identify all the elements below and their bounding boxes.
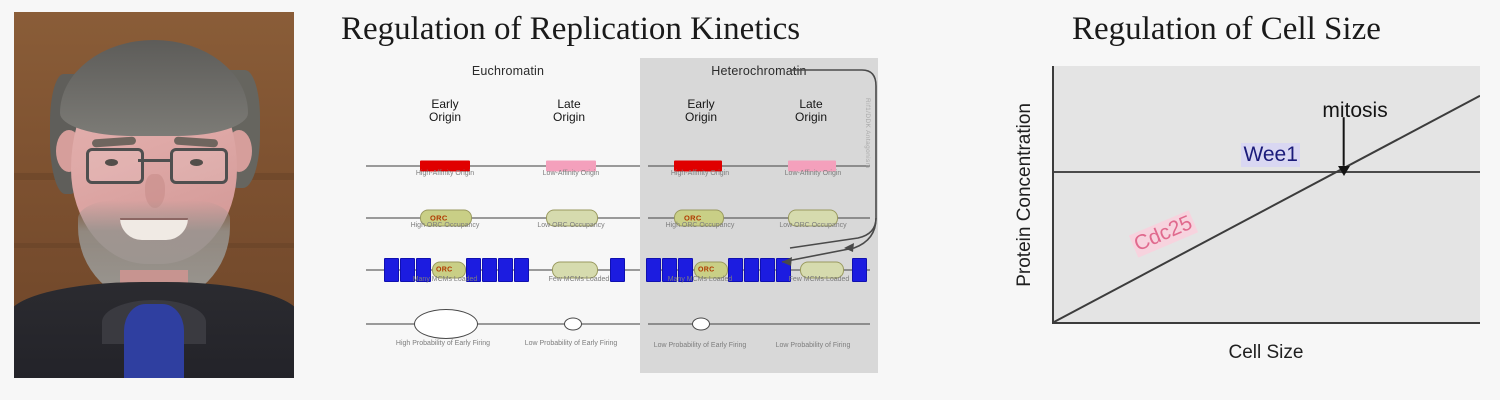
label-line2: Origin [658, 111, 744, 124]
mitosis-arrow-icon [1054, 66, 1480, 322]
page-title-replication-kinetics: Regulation of Replication Kinetics [341, 11, 800, 48]
replication-bubble-large [414, 309, 478, 339]
dna-strand [366, 165, 650, 167]
mitosis-arrowhead-icon [1338, 166, 1350, 176]
mcm-box [498, 258, 513, 282]
dna-strand [366, 217, 650, 219]
euchromatin-row-mcm-loading: ORC Many MCMs Loaded Few MCMs Loaded [358, 246, 658, 294]
heterochromatin-late-origin-label: Late Origin [768, 98, 854, 124]
caption-low-affinity-origin: Low-Affinity Origin [516, 170, 626, 178]
orc-label-text: ORC [698, 267, 714, 274]
caption-high-probability-early-firing: High Probability of Early Firing [388, 340, 498, 348]
portrait-image [14, 12, 294, 378]
replication-bubble-small [564, 318, 582, 331]
caption-high-orc-occupancy: High ORC Occupancy [645, 222, 755, 230]
heterochromatin-row-origin-affinity: High-Affinity Origin Low-Affinity Origin [640, 142, 878, 190]
chart-plot-area: Wee1 Cdc25 mitosis [1052, 66, 1480, 324]
heterochromatin-early-origin-label: Early Origin [658, 98, 744, 124]
caption-few-mcms-loaded: Few MCMs Loaded [524, 276, 634, 284]
panel-heading-euchromatin: Euchromatin [358, 64, 658, 78]
rif1-ddk-antagonism-label: Rif1/DDK Antagonism [864, 98, 871, 168]
caption-low-affinity-origin: Low-Affinity Origin [758, 170, 868, 178]
orc-label-text: ORC [436, 267, 452, 274]
caption-high-orc-occupancy: High ORC Occupancy [390, 222, 500, 230]
y-axis-label-text: Protein Concentration [1014, 103, 1036, 287]
dna-strand [648, 323, 870, 325]
replication-kinetics-diagram: Euchromatin Early Origin Late Origin Hig… [330, 58, 890, 388]
dna-strand [366, 323, 650, 325]
panel-heading-heterochromatin: Heterochromatin [640, 64, 878, 78]
caption-few-mcms-loaded: Few MCMs Loaded [764, 276, 874, 284]
page-title-cell-size: Regulation of Cell Size [1072, 11, 1381, 48]
caption-low-orc-occupancy: Low ORC Occupancy [758, 222, 868, 230]
euchromatin-row-orc-occupancy: ORC High ORC Occupancy Low ORC Occupancy [358, 194, 658, 242]
euchromatin-row-origin-affinity: High-Affinity Origin Low-Affinity Origin [358, 142, 658, 190]
figure-canvas: Regulation of Replication Kinetics Regul… [0, 0, 1500, 400]
caption-low-probability-early-firing: Low Probability of Early Firing [516, 340, 626, 348]
panel-heterochromatin: Heterochromatin Early Origin Late Origin… [640, 58, 878, 373]
caption-many-mcms-loaded: Many MCMs Loaded [390, 276, 500, 284]
heterochromatin-row-firing-probability: Low Probability of Early Firing Low Prob… [640, 302, 878, 362]
cell-size-chart: Protein Concentration Wee1 Cdc25 mitosis… [1010, 66, 1480, 366]
wee1-series-label: Wee1 [1241, 143, 1299, 167]
label-line2: Origin [526, 111, 612, 124]
caption-low-probability-firing: Low Probability of Firing [758, 342, 868, 350]
caption-many-mcms-loaded: Many MCMs Loaded [645, 276, 755, 284]
heterochromatin-row-orc-occupancy: ORC High ORC Occupancy Low ORC Occupancy [640, 194, 878, 242]
euchromatin-row-firing-probability: High Probability of Early Firing Low Pro… [358, 302, 658, 358]
shirt [124, 304, 184, 378]
euchromatin-late-origin-label: Late Origin [526, 98, 612, 124]
caption-high-affinity-origin: High-Affinity Origin [645, 170, 755, 178]
portrait-photo [14, 12, 294, 378]
panel-euchromatin: Euchromatin Early Origin Late Origin Hig… [358, 58, 658, 378]
mitosis-annotation-label: mitosis [1322, 99, 1387, 123]
caption-low-probability-early-firing: Low Probability of Early Firing [645, 342, 755, 350]
replication-bubble-small [692, 318, 710, 331]
eyeglasses-bridge [138, 159, 170, 162]
euchromatin-early-origin-label: Early Origin [402, 98, 488, 124]
eyeglasses-lens-right [170, 148, 228, 184]
chart-y-axis-label: Protein Concentration [1008, 66, 1042, 324]
heterochromatin-row-mcm-loading: ORC Many MCMs Loaded Few MCMs Loaded [640, 246, 878, 294]
eyeglasses-lens-left [86, 148, 144, 184]
label-line2: Origin [768, 111, 854, 124]
caption-high-affinity-origin: High-Affinity Origin [390, 170, 500, 178]
caption-low-orc-occupancy: Low ORC Occupancy [516, 222, 626, 230]
chart-x-axis-label: Cell Size [1052, 342, 1480, 364]
label-line2: Origin [402, 111, 488, 124]
